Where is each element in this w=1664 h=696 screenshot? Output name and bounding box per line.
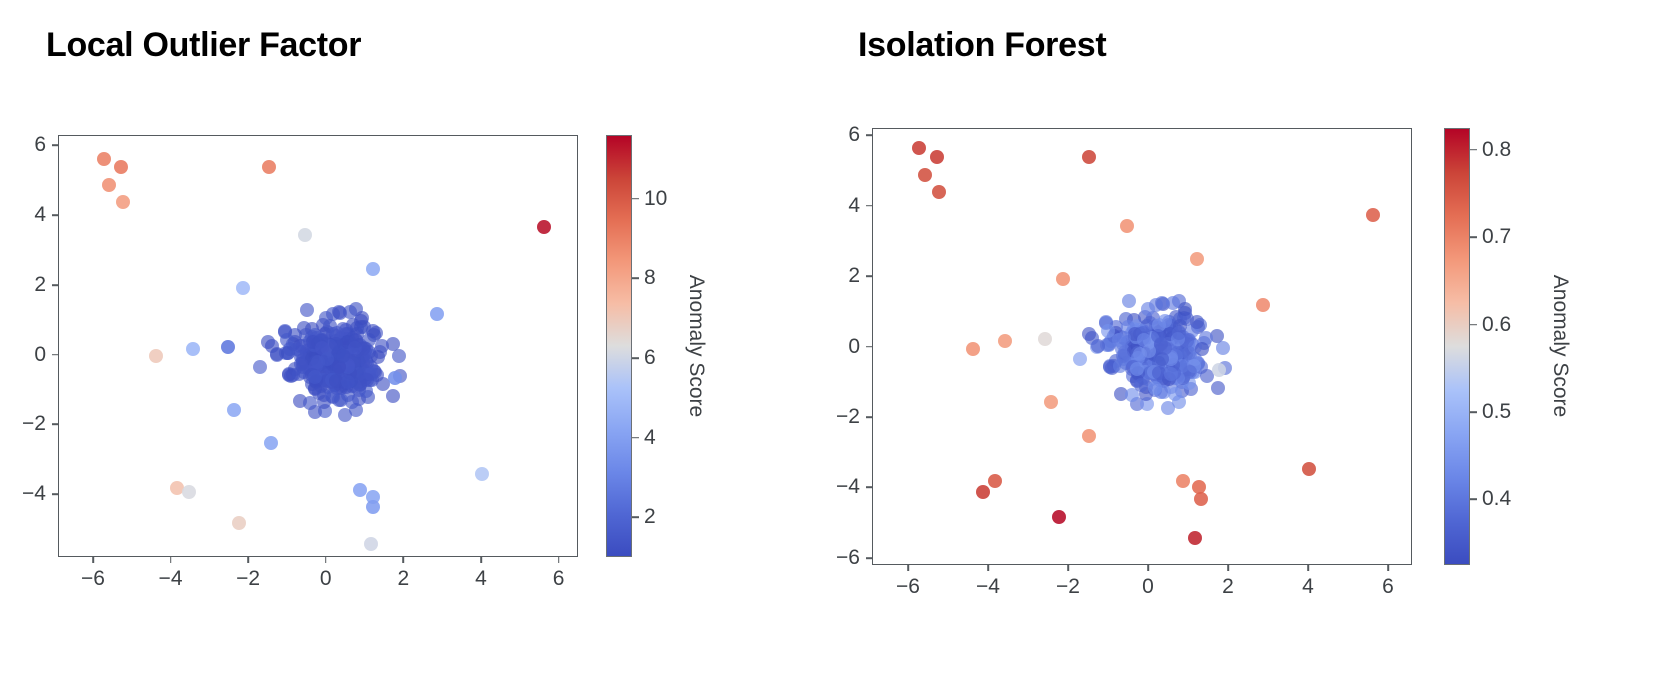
colorbar-tick-label: 8 xyxy=(644,266,656,290)
scatter-point-outlier xyxy=(912,141,926,155)
colorbar-tick-mark xyxy=(632,278,639,280)
y-tick-label: −2 xyxy=(816,405,860,429)
scatter-point-outlier xyxy=(1120,219,1134,233)
scatter-point-inlier xyxy=(371,350,385,364)
scatter-point-inlier xyxy=(1091,339,1105,353)
scatter-point-outlier xyxy=(998,334,1012,348)
y-tick-label: −2 xyxy=(2,412,46,436)
x-tick-mark xyxy=(247,557,249,563)
scatter-point-inlier xyxy=(360,373,374,387)
x-tick-label: 0 xyxy=(320,567,332,591)
y-tick-label: −4 xyxy=(816,475,860,499)
scatter-point-outlier xyxy=(976,485,990,499)
scatter-point-outlier xyxy=(1044,395,1058,409)
scatter-point-outlier xyxy=(227,403,241,417)
y-tick-label: 6 xyxy=(2,133,46,157)
scatter-point-inlier xyxy=(386,389,400,403)
scatter-point-outlier xyxy=(1056,272,1070,286)
colorbar-tick-label: 0.4 xyxy=(1482,487,1511,511)
colorbar-axis-label-lof: Anomaly Score xyxy=(684,275,708,417)
scatter-point-outlier xyxy=(114,160,128,174)
scatter-point-outlier xyxy=(388,371,402,385)
scatter-point-inlier xyxy=(341,375,355,389)
scatter-point-inlier xyxy=(1178,302,1192,316)
scatter-point-inlier xyxy=(308,370,322,384)
scatter-point-outlier xyxy=(221,340,235,354)
colorbar-tick-label: 0.5 xyxy=(1482,400,1511,424)
scatter-point-inlier xyxy=(1183,365,1197,379)
x-tick-mark xyxy=(403,557,405,563)
scatter-point-outlier xyxy=(364,537,378,551)
scatter-point-outlier xyxy=(149,349,163,363)
y-tick-mark xyxy=(52,354,58,356)
scatter-point-outlier xyxy=(353,483,367,497)
y-tick-mark xyxy=(866,275,872,277)
scatter-plot-lof xyxy=(58,135,578,557)
colorbar-tick-mark xyxy=(1470,411,1477,413)
scatter-point-outlier xyxy=(116,195,130,209)
x-tick-mark xyxy=(325,557,327,563)
scatter-point-outlier xyxy=(102,178,116,192)
scatter-point-outlier xyxy=(264,436,278,450)
colorbar-axis-label-iforest: Anomaly Score xyxy=(1548,275,1572,417)
scatter-point-inlier xyxy=(1158,341,1172,355)
y-tick-mark xyxy=(52,284,58,286)
scatter-point-inlier xyxy=(1190,315,1204,329)
scatter-point-inlier xyxy=(319,311,333,325)
colorbar-tick-mark xyxy=(632,357,639,359)
scatter-point-outlier xyxy=(1188,531,1202,545)
scatter-point-inlier xyxy=(1122,294,1136,308)
scatter-point-outlier xyxy=(182,485,196,499)
scatter-point-outlier xyxy=(262,160,276,174)
scatter-point-outlier xyxy=(298,228,312,242)
scatter-point-inlier xyxy=(312,386,326,400)
scatter-point-outlier xyxy=(1176,474,1190,488)
y-tick-mark xyxy=(52,424,58,426)
colorbar-tick-mark xyxy=(632,437,639,439)
scatter-point-inlier xyxy=(1216,341,1230,355)
scatter-point-inlier xyxy=(343,305,357,319)
y-tick-label: 4 xyxy=(2,203,46,227)
colorbar-tick-label: 0.8 xyxy=(1482,138,1511,162)
x-tick-label: 4 xyxy=(1302,575,1314,599)
x-tick-mark xyxy=(1147,565,1149,571)
scatter-point-outlier xyxy=(1082,150,1096,164)
scatter-point-outlier xyxy=(1302,462,1316,476)
scatter-point-inlier xyxy=(1117,331,1131,345)
scatter-point-outlier xyxy=(988,474,1002,488)
x-tick-mark xyxy=(558,557,560,563)
scatter-point-inlier xyxy=(325,389,339,403)
x-tick-mark xyxy=(1227,565,1229,571)
scatter-point-inlier xyxy=(1148,381,1162,395)
colorbar-tick-mark xyxy=(1470,324,1477,326)
scatter-point-inlier xyxy=(1141,302,1155,316)
colorbar-gradient-iforest xyxy=(1445,129,1469,564)
colorbar-tick-label: 10 xyxy=(644,187,667,211)
scatter-point-outlier xyxy=(475,467,489,481)
colorbar-tick-label: 0.6 xyxy=(1482,313,1511,337)
y-tick-label: −4 xyxy=(2,482,46,506)
scatter-point-outlier xyxy=(1082,429,1096,443)
scatter-point-inlier xyxy=(1172,326,1186,340)
y-tick-mark xyxy=(866,557,872,559)
x-tick-label: −4 xyxy=(976,575,1000,599)
panel-title-lof: Local Outlier Factor xyxy=(46,26,361,65)
y-tick-mark xyxy=(52,214,58,216)
y-tick-label: 0 xyxy=(816,335,860,359)
scatter-point-outlier xyxy=(932,185,946,199)
scatter-point-inlier xyxy=(1164,367,1178,381)
scatter-point-inlier xyxy=(1195,342,1209,356)
scatter-point-inlier xyxy=(253,360,267,374)
scatter-point-outlier xyxy=(1038,332,1052,346)
scatter-point-outlier xyxy=(366,262,380,276)
y-tick-mark xyxy=(866,346,872,348)
y-tick-label: 6 xyxy=(816,123,860,147)
scatter-point-inlier xyxy=(349,334,363,348)
scatter-point-inlier xyxy=(1158,314,1172,328)
scatter-plot-iforest xyxy=(872,128,1412,565)
y-tick-label: −6 xyxy=(816,546,860,570)
x-tick-label: 0 xyxy=(1142,575,1154,599)
colorbar-gradient-lof xyxy=(607,136,631,556)
y-tick-mark xyxy=(52,493,58,495)
scatter-point-inlier xyxy=(1166,296,1180,310)
colorbar-tick-mark xyxy=(1470,236,1477,238)
scatter-point-inlier xyxy=(1211,381,1225,395)
scatter-point-inlier xyxy=(355,311,369,325)
x-tick-label: 6 xyxy=(553,567,565,591)
y-tick-label: 2 xyxy=(2,273,46,297)
colorbar-tick-label: 2 xyxy=(644,505,656,529)
colorbar-tick-label: 0.7 xyxy=(1482,225,1511,249)
x-tick-label: 2 xyxy=(398,567,410,591)
scatter-point-inlier xyxy=(336,322,350,336)
x-tick-mark xyxy=(907,565,909,571)
x-tick-label: −4 xyxy=(159,567,183,591)
scatter-point-inlier xyxy=(1182,346,1196,360)
x-tick-mark xyxy=(1387,565,1389,571)
colorbar-tick-label: 6 xyxy=(644,346,656,370)
x-tick-mark xyxy=(987,565,989,571)
scatter-point-inlier xyxy=(349,403,363,417)
x-tick-label: −2 xyxy=(1056,575,1080,599)
scatter-point-outlier xyxy=(1212,363,1226,377)
panel-local-outlier-factor: Local Outlier Factor 6420−2−4 −6−4−20246… xyxy=(0,0,820,696)
scatter-point-inlier xyxy=(1130,362,1144,376)
scatter-point-inlier xyxy=(1073,352,1087,366)
colorbar-tick-mark xyxy=(1470,149,1477,151)
y-tick-mark xyxy=(866,205,872,207)
scatter-point-outlier xyxy=(1190,252,1204,266)
x-tick-label: −2 xyxy=(236,567,260,591)
x-tick-label: 4 xyxy=(475,567,487,591)
panel-isolation-forest: Isolation Forest 6420−2−4−6 −6−4−20246 0… xyxy=(820,0,1664,696)
colorbar-iforest xyxy=(1444,128,1470,565)
scatter-point-outlier xyxy=(537,220,551,234)
x-tick-label: −6 xyxy=(81,567,105,591)
y-tick-label: 2 xyxy=(816,264,860,288)
scatter-point-outlier xyxy=(1194,492,1208,506)
scatter-point-outlier xyxy=(930,150,944,164)
scatter-point-outlier xyxy=(966,342,980,356)
y-tick-label: 4 xyxy=(816,194,860,218)
y-tick-mark xyxy=(866,134,872,136)
scatter-point-outlier xyxy=(430,307,444,321)
scatter-point-inlier xyxy=(1134,378,1148,392)
x-tick-mark xyxy=(1307,565,1309,571)
scatter-point-inlier xyxy=(1101,324,1115,338)
x-tick-label: 2 xyxy=(1222,575,1234,599)
x-tick-mark xyxy=(480,557,482,563)
x-tick-mark xyxy=(92,557,94,563)
scatter-point-outlier xyxy=(97,152,111,166)
scatter-point-outlier xyxy=(1256,298,1270,312)
scatter-point-inlier xyxy=(300,303,314,317)
scatter-point-outlier xyxy=(1052,510,1066,524)
scatter-point-inlier xyxy=(296,339,310,353)
colorbar-lof xyxy=(606,135,632,557)
figure-root: Local Outlier Factor 6420−2−4 −6−4−20246… xyxy=(0,0,1664,696)
y-tick-label: 0 xyxy=(2,343,46,367)
scatter-point-inlier xyxy=(280,333,294,347)
y-tick-mark xyxy=(52,145,58,147)
scatter-point-outlier xyxy=(186,342,200,356)
scatter-point-outlier xyxy=(232,516,246,530)
scatter-point-inlier xyxy=(336,349,350,363)
scatter-point-outlier xyxy=(236,281,250,295)
colorbar-tick-mark xyxy=(632,198,639,200)
scatter-point-outlier xyxy=(366,500,380,514)
x-tick-mark xyxy=(1067,565,1069,571)
panel-title-iforest: Isolation Forest xyxy=(858,26,1106,65)
y-tick-mark xyxy=(866,487,872,489)
colorbar-tick-mark xyxy=(632,516,639,518)
scatter-point-inlier xyxy=(366,324,380,338)
y-tick-mark xyxy=(866,416,872,418)
x-tick-label: −6 xyxy=(896,575,920,599)
scatter-point-inlier xyxy=(1172,395,1186,409)
x-tick-mark xyxy=(170,557,172,563)
scatter-point-outlier xyxy=(918,168,932,182)
colorbar-tick-mark xyxy=(1470,499,1477,501)
colorbar-tick-label: 4 xyxy=(644,426,656,450)
x-tick-label: 6 xyxy=(1382,575,1394,599)
scatter-point-outlier xyxy=(1366,208,1380,222)
